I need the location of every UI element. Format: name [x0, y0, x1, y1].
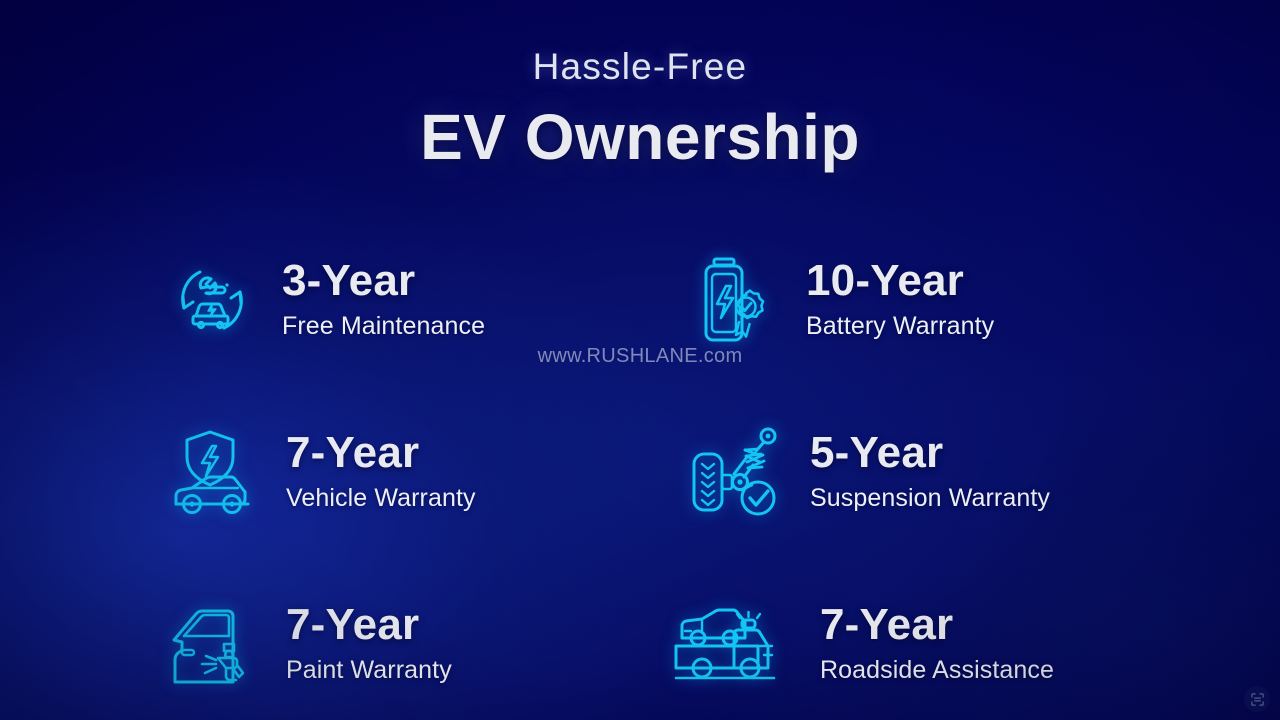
- feature-item: 5-Year Suspension Warranty: [662, 386, 1160, 558]
- feature-desc: Roadside Assistance: [820, 656, 1054, 685]
- feature-item: 7-Year Roadside Assistance: [662, 558, 1160, 720]
- feature-term: 5-Year: [810, 431, 1050, 476]
- feature-term: 7-Year: [286, 431, 476, 476]
- feature-term: 7-Year: [820, 603, 1054, 648]
- maintenance-cycle-icon: [160, 248, 264, 352]
- feature-texts: 3-Year Free Maintenance: [282, 259, 485, 342]
- battery-badge-icon: [678, 248, 782, 352]
- feature-term: 3-Year: [282, 259, 485, 304]
- door-spraygun-icon: [160, 592, 264, 696]
- page-title: EV Ownership: [0, 100, 1280, 174]
- shield-car-icon: [160, 420, 264, 524]
- feature-texts: 7-Year Roadside Assistance: [820, 603, 1054, 686]
- feature-desc: Suspension Warranty: [810, 484, 1050, 513]
- feature-item: 3-Year Free Maintenance: [160, 214, 658, 386]
- slide-header: Hassle-Free EV Ownership: [0, 0, 1280, 174]
- feature-desc: Free Maintenance: [282, 312, 485, 341]
- feature-item: 10-Year Battery Warranty: [662, 214, 1160, 386]
- kicker-text: Hassle-Free: [0, 46, 1280, 88]
- tow-truck-icon: [676, 592, 780, 696]
- feature-term: 7-Year: [286, 603, 452, 648]
- feature-texts: 7-Year Vehicle Warranty: [286, 431, 476, 514]
- feature-item: 7-Year Paint Warranty: [160, 558, 658, 720]
- feature-grid: 3-Year Free Maintenance: [160, 214, 1160, 720]
- feature-desc: Paint Warranty: [286, 656, 452, 685]
- scan-frame-icon[interactable]: [1244, 686, 1270, 712]
- feature-term: 10-Year: [806, 259, 994, 304]
- feature-texts: 5-Year Suspension Warranty: [810, 431, 1050, 514]
- suspension-check-icon: [684, 420, 788, 524]
- feature-item: 7-Year Vehicle Warranty: [160, 386, 658, 558]
- feature-texts: 7-Year Paint Warranty: [286, 603, 452, 686]
- feature-texts: 10-Year Battery Warranty: [806, 259, 994, 342]
- feature-desc: Vehicle Warranty: [286, 484, 476, 513]
- feature-desc: Battery Warranty: [806, 312, 994, 341]
- slide-canvas: Hassle-Free EV Ownership www.RUSHLANE.co…: [0, 0, 1280, 720]
